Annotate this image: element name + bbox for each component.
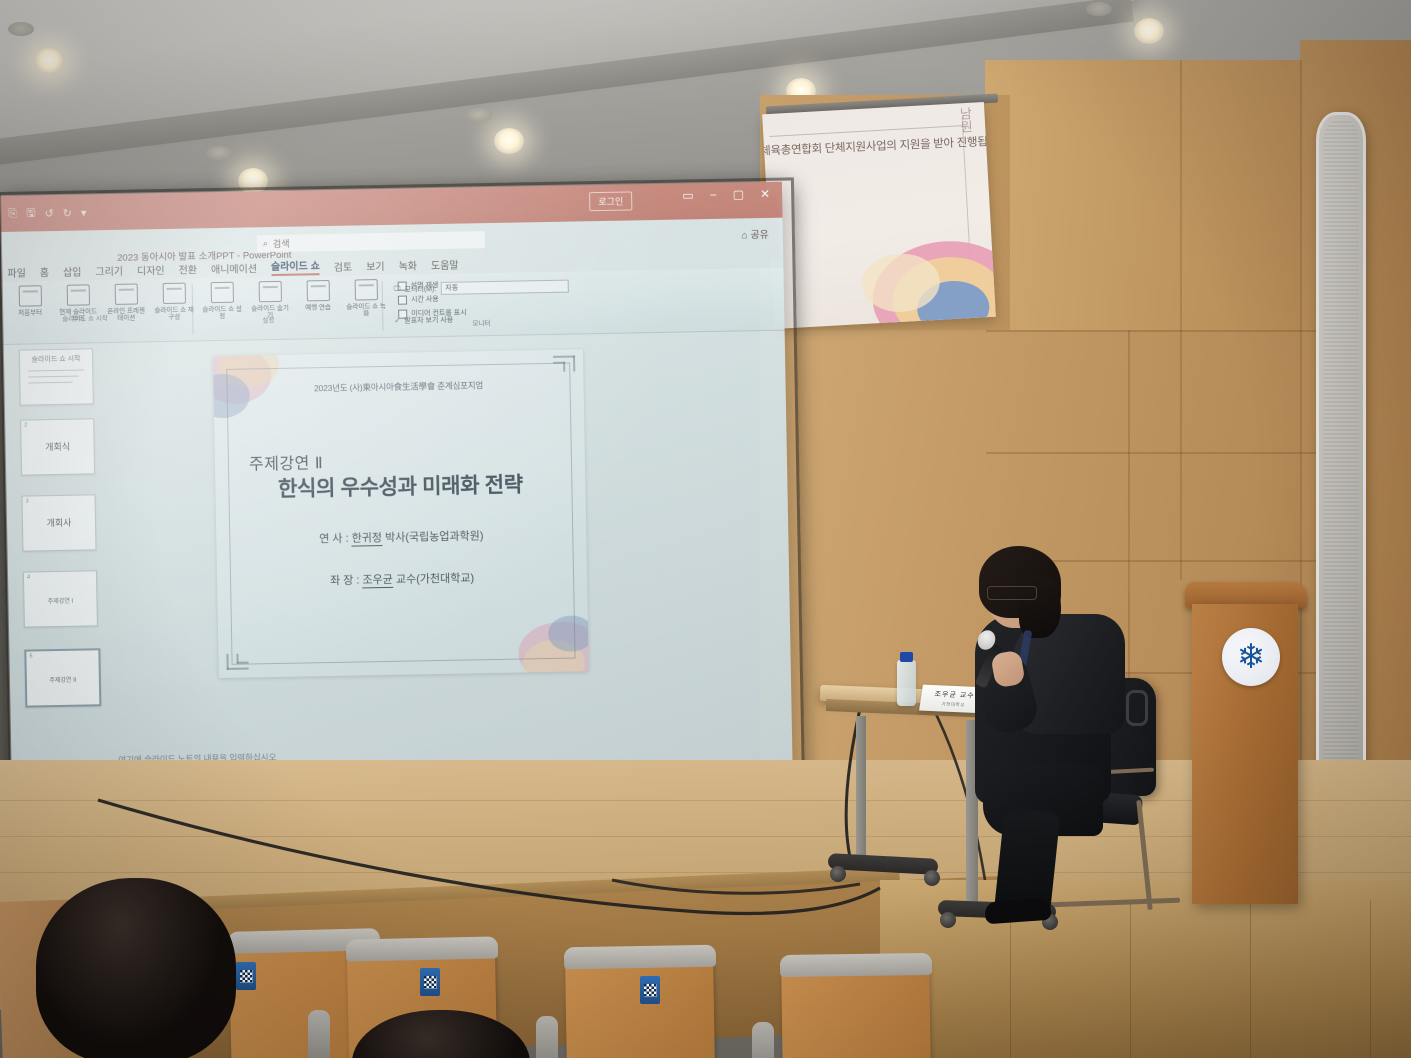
water-bottle bbox=[897, 660, 916, 706]
table-caster bbox=[924, 870, 940, 886]
speaker-mesh bbox=[1323, 119, 1359, 787]
wall-speaker bbox=[1316, 112, 1366, 794]
qr-code bbox=[240, 970, 253, 983]
wall-seam bbox=[986, 452, 1320, 454]
placard-name-text: 조우균 교수 bbox=[934, 689, 976, 701]
table-caster bbox=[940, 912, 956, 928]
snowflake-emblem-icon: ❄ bbox=[1237, 640, 1266, 674]
speaker-shoe bbox=[984, 898, 1051, 925]
projection-screen-border bbox=[0, 177, 805, 813]
seat-qr-sticker bbox=[236, 962, 256, 990]
seat-hinge bbox=[536, 1016, 558, 1058]
banner-vertical-mark: 남원 bbox=[955, 107, 975, 134]
banner-text: 체육총연합회 단체지원사업의 지원을 받아 진행됩니다. bbox=[762, 132, 996, 158]
ceiling-downlight bbox=[466, 108, 492, 122]
audience-head bbox=[36, 878, 236, 1058]
seated-speaker bbox=[975, 552, 1165, 912]
ceiling-downlight bbox=[494, 128, 524, 154]
speaker-glasses bbox=[987, 586, 1037, 600]
ceiling-downlight bbox=[1086, 2, 1112, 16]
podium-emblem: ❄ bbox=[1222, 628, 1280, 686]
wall-seam bbox=[986, 330, 1320, 332]
qr-code bbox=[424, 976, 437, 989]
seat-qr-sticker bbox=[640, 976, 660, 1004]
seat-qr-sticker bbox=[420, 968, 440, 996]
seat-cap bbox=[780, 953, 932, 977]
table-caster bbox=[830, 866, 846, 882]
seat-cap bbox=[564, 945, 716, 970]
ceiling-downlight bbox=[8, 22, 34, 36]
qr-code bbox=[644, 984, 657, 997]
wall-seam bbox=[1180, 60, 1182, 580]
seat-hinge bbox=[308, 1010, 330, 1058]
seat-cap bbox=[346, 936, 498, 961]
table-leg bbox=[856, 716, 866, 858]
ceiling-downlight bbox=[206, 146, 232, 160]
placard-affiliation-text: 가천대학교 bbox=[941, 701, 965, 708]
seat-hinge bbox=[752, 1022, 774, 1058]
bottle-cap bbox=[900, 652, 913, 662]
ceiling-downlight bbox=[34, 48, 64, 74]
event-banner: 남원 체육총연합회 단체지원사업의 지원을 받아 진행됩니다. bbox=[762, 102, 996, 329]
ceiling-downlight bbox=[1134, 18, 1164, 44]
auditorium-scene: 남원 체육총연합회 단체지원사업의 지원을 받아 진행됩니다. ⎘ 🖫 ↺ ↻ … bbox=[0, 0, 1411, 1058]
